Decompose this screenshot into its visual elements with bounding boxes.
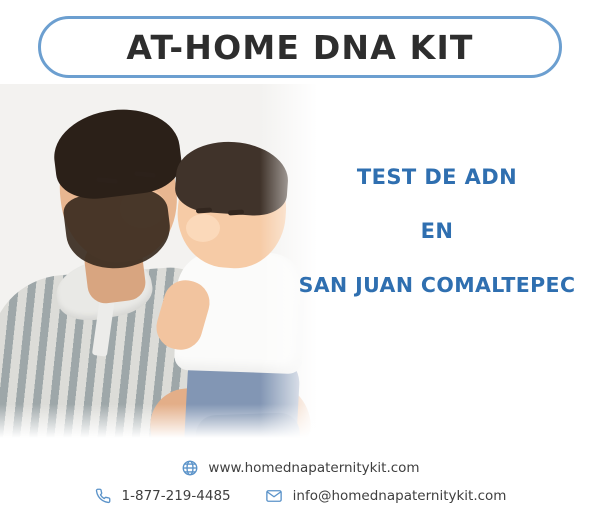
headline-line-3: SAN JUAN COMALTEPEC [282, 258, 592, 312]
email-item[interactable]: info@homednapaternitykit.com [265, 487, 507, 506]
headline-line-1: TEST DE ADN [282, 150, 592, 204]
footer-row-phone-email: 1-877-219-4485 info@homednapaternitykit.… [94, 487, 507, 506]
email-text: info@homednapaternitykit.com [293, 488, 507, 504]
envelope-icon [265, 487, 284, 506]
phone-icon [94, 487, 113, 506]
header-banner: AT-HOME DNA KIT [38, 16, 562, 78]
photo-bottom-fade [0, 404, 330, 444]
footer-contact-bar: www.homednapaternitykit.com 1-877-219-44… [0, 444, 600, 520]
dna-kit-promo-card: AT-HOME DNA KIT TEST DE ADN EN SAN JUAN … [0, 0, 600, 520]
family-photo [0, 84, 330, 444]
website-text: www.homednapaternitykit.com [208, 460, 419, 476]
headline: TEST DE ADN EN SAN JUAN COMALTEPEC [282, 150, 592, 312]
page-title: AT-HOME DNA KIT [126, 28, 473, 67]
phone-text: 1-877-219-4485 [122, 488, 231, 504]
globe-icon [180, 459, 199, 478]
website-item[interactable]: www.homednapaternitykit.com [180, 459, 419, 478]
headline-line-2: EN [282, 204, 592, 258]
footer-row-website: www.homednapaternitykit.com [180, 459, 419, 478]
child-cheek [186, 214, 220, 242]
phone-item[interactable]: 1-877-219-4485 [94, 487, 231, 506]
